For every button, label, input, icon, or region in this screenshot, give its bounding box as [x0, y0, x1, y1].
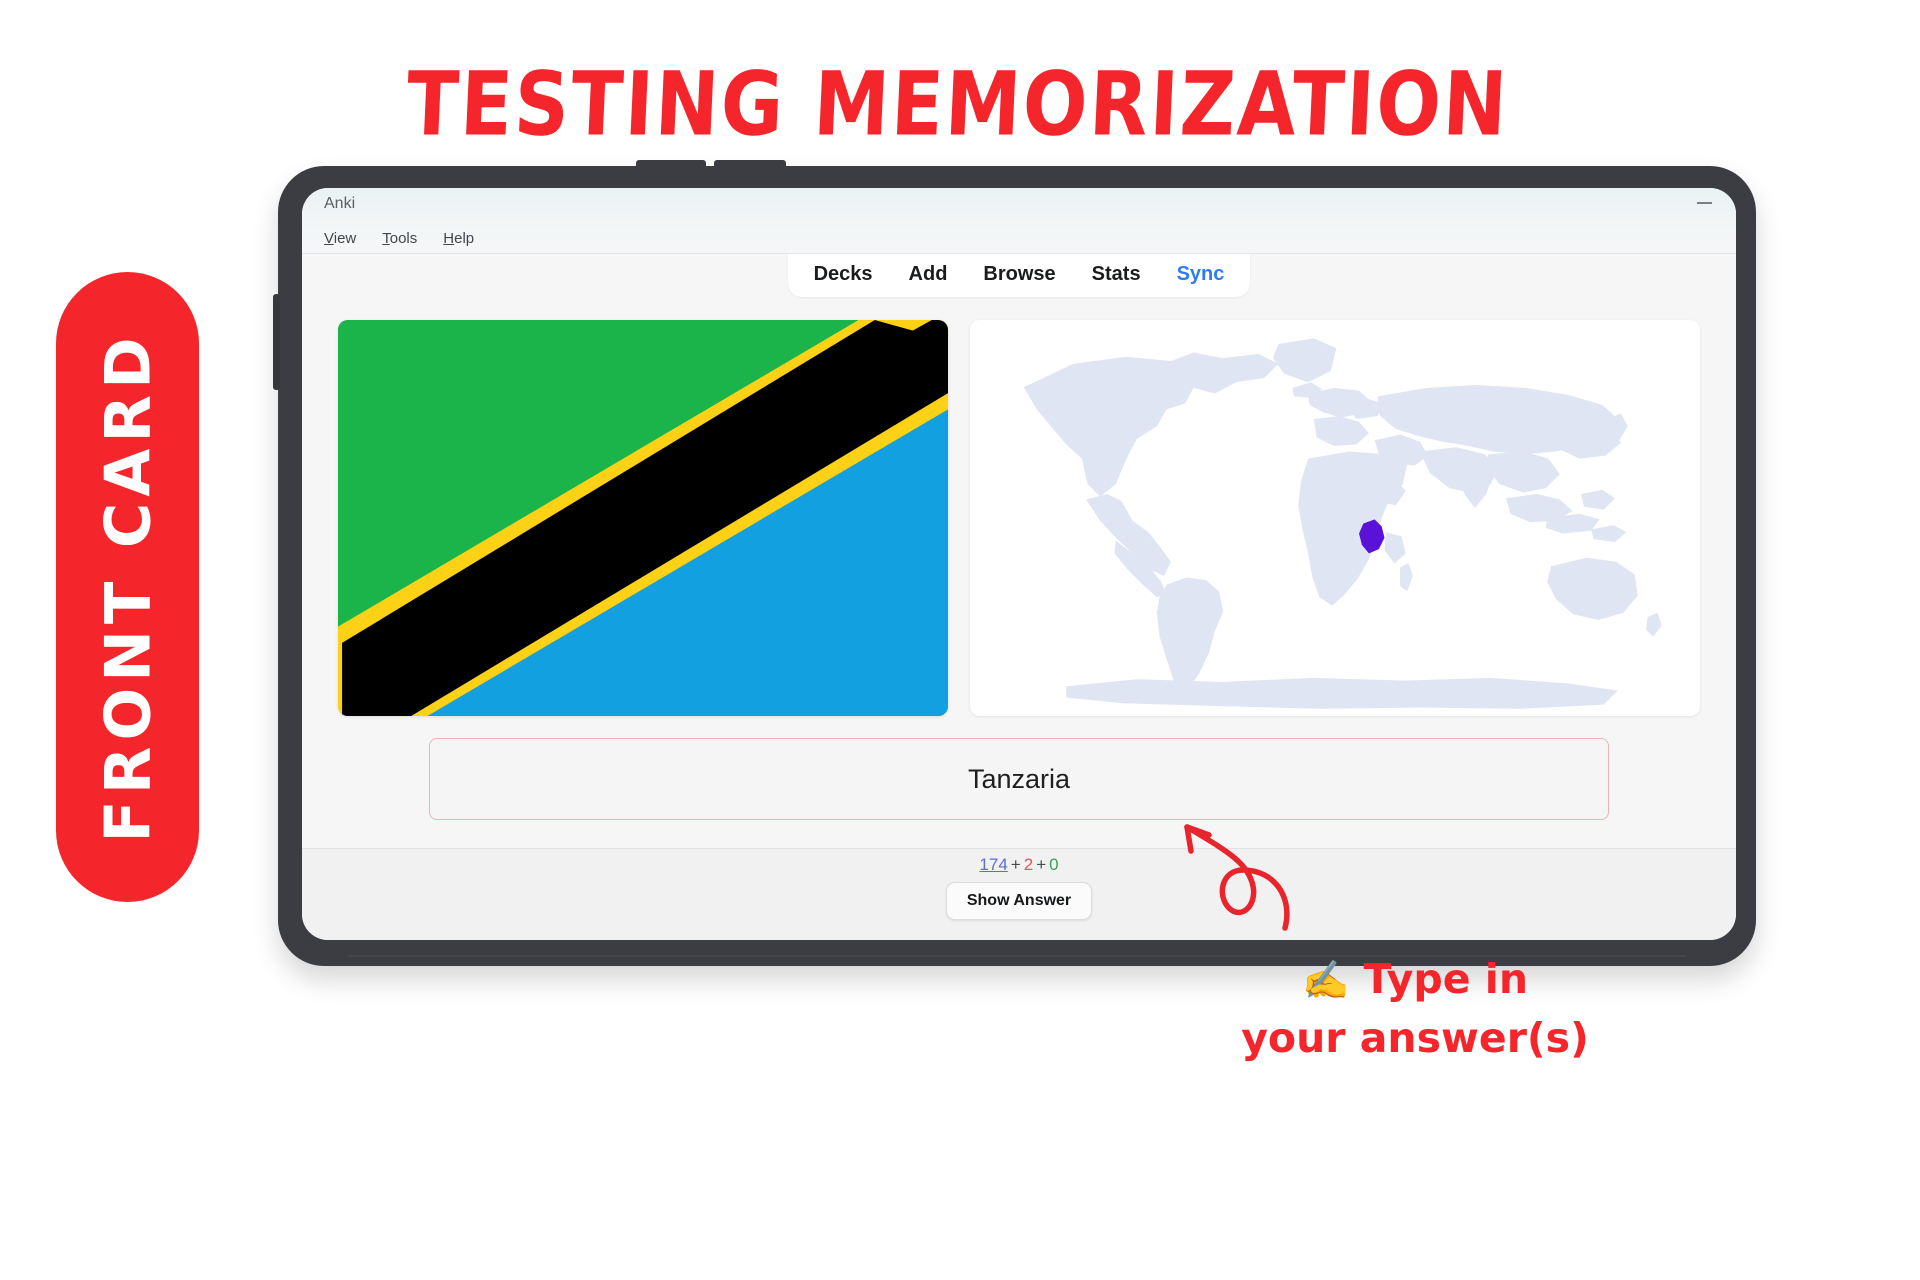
poster-stage: TESTING MEMORIZATION FRONT CARD Anki Vie…: [0, 0, 1920, 1280]
card-counts: 174+2+0: [979, 855, 1058, 875]
menu-tools-accel: T: [382, 230, 390, 247]
front-card-badge: FRONT CARD: [56, 272, 199, 902]
callout-line-2: your answer(s): [1180, 1009, 1650, 1068]
count-separator-2: +: [1033, 855, 1049, 874]
count-separator-1: +: [1008, 855, 1024, 874]
world-map-image: [970, 320, 1700, 716]
window-title: Anki: [324, 195, 355, 213]
nav-sync[interactable]: Sync: [1177, 263, 1225, 286]
menu-view-rest: iew: [334, 230, 357, 247]
count-due: 0: [1049, 855, 1058, 874]
minimize-icon[interactable]: [1697, 202, 1712, 204]
menu-view-accel: V: [324, 230, 334, 247]
type-answer-input[interactable]: Tanzaria: [429, 738, 1609, 820]
menu-view[interactable]: View: [324, 230, 356, 247]
menu-help-accel: H: [443, 230, 454, 247]
writing-hand-icon: ✍️: [1302, 958, 1349, 1002]
tanzania-flag-svg: [338, 320, 948, 716]
callout-line-1-text: Type in: [1364, 955, 1529, 1003]
front-card-badge-label: FRONT CARD: [91, 331, 164, 842]
type-answer-callout: ✍️ Type in your answer(s): [1180, 950, 1650, 1069]
tablet-device-frame: Anki View Tools Help Decks Add Browse St…: [278, 166, 1756, 966]
card-body: Tanzaria: [302, 304, 1736, 820]
nav-decks[interactable]: Decks: [814, 263, 873, 286]
window-titlebar: Anki: [302, 188, 1736, 224]
status-bar: 174+2+0 Show Answer: [302, 848, 1736, 940]
answer-row: Tanzaria: [338, 738, 1700, 820]
nav-browse[interactable]: Browse: [983, 263, 1055, 286]
page-title: TESTING MEMORIZATION: [0, 52, 1920, 155]
tablet-top-antenna-nubs: [636, 160, 1196, 172]
menubar: View Tools Help: [302, 224, 1736, 254]
nav-add[interactable]: Add: [909, 263, 948, 286]
callout-line-1: ✍️ Type in: [1180, 950, 1650, 1009]
anki-nav-wrapper: Decks Add Browse Stats Sync: [302, 254, 1736, 304]
nav-stats[interactable]: Stats: [1092, 263, 1141, 286]
menu-help-rest: elp: [454, 230, 474, 247]
tablet-nub-left: [636, 160, 706, 170]
world-map-svg: [970, 320, 1700, 716]
count-learning: 2: [1024, 855, 1033, 874]
count-new[interactable]: 174: [979, 855, 1007, 874]
menu-tools[interactable]: Tools: [382, 230, 417, 247]
anki-nav: Decks Add Browse Stats Sync: [788, 254, 1251, 297]
show-answer-button[interactable]: Show Answer: [946, 882, 1092, 920]
menu-help[interactable]: Help: [443, 230, 474, 247]
tablet-screen: Anki View Tools Help Decks Add Browse St…: [302, 188, 1736, 940]
card-media-row: [338, 320, 1700, 716]
tablet-nub-right: [714, 160, 786, 170]
menu-tools-rest: ools: [390, 230, 418, 247]
volume-button[interactable]: [273, 294, 280, 390]
tanzania-flag-image: [338, 320, 948, 716]
